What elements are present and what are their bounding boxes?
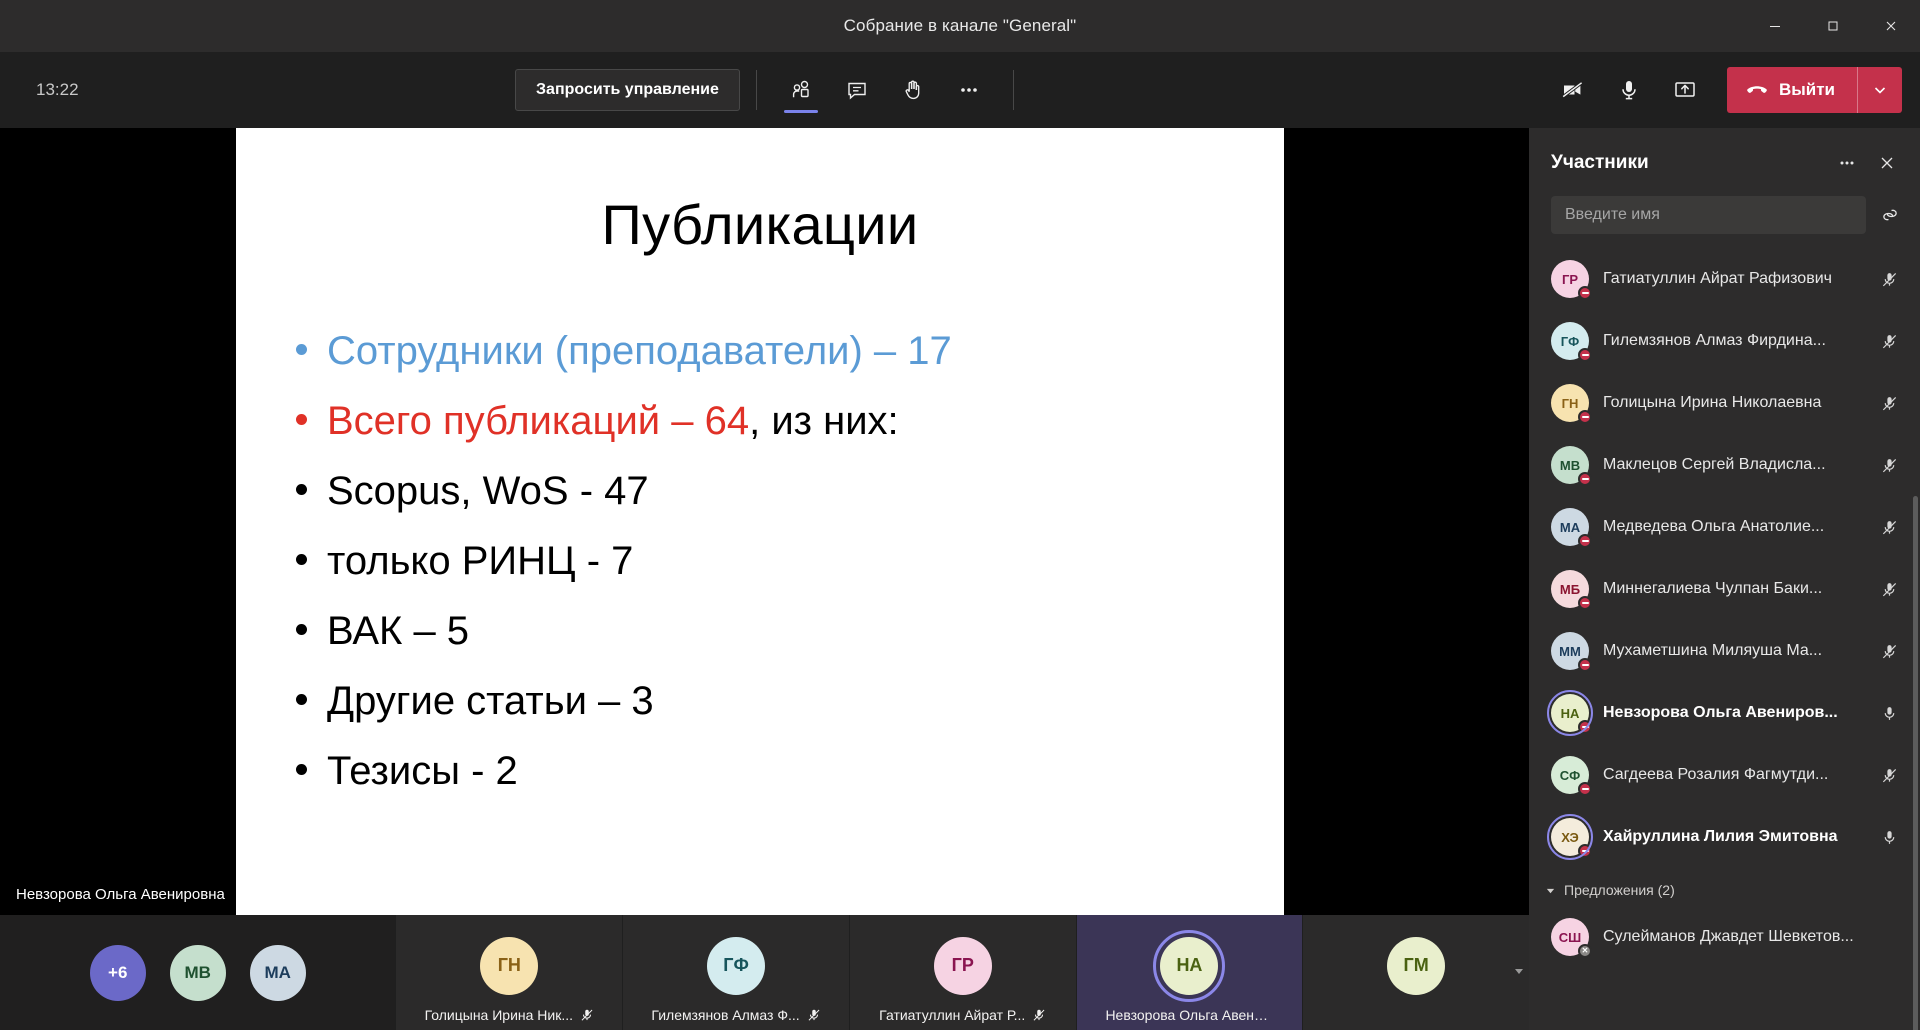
tile-name: Гилемзянов Алмаз Ф...	[651, 1007, 799, 1023]
meeting-stage: Публикации Сотрудники (преподаватели) – …	[0, 128, 1529, 915]
presence-badge-busy	[1578, 782, 1592, 796]
overflow-avatar[interactable]: МА	[250, 945, 306, 1001]
title-bar: Собрание в канале "General"	[0, 0, 1920, 52]
participant-mic-status	[1874, 767, 1904, 784]
participant-name: Гилемзянов Алмаз Фирдина...	[1603, 332, 1874, 350]
show-chat-button[interactable]	[829, 64, 885, 116]
bullet-tail: , из них:	[749, 399, 899, 443]
toolbar-divider-left	[756, 70, 757, 110]
toggle-camera-button[interactable]	[1545, 64, 1601, 116]
presence-badge-busy	[1578, 534, 1592, 548]
participant-mic-status	[1874, 581, 1904, 598]
presence-badge-busy	[1578, 348, 1592, 362]
bullet-dot	[296, 414, 307, 425]
slide-bullet-item: ВАК – 5	[288, 611, 1284, 651]
avatar: СФ	[1551, 756, 1589, 794]
presenter-name-label: Невзорова Ольга Авенировна	[16, 886, 225, 903]
bullet-dot	[296, 554, 307, 565]
bullet-text: только РИНЦ - 7	[327, 541, 633, 581]
filmstrip-tile[interactable]: ГМ	[1302, 915, 1529, 1030]
slide-bullet-item: Сотрудники (преподаватели) – 17	[288, 331, 1284, 371]
share-screen-button[interactable]	[1657, 64, 1713, 116]
bullet-dot	[296, 694, 307, 705]
tile-name: Голицына Ирина Ник...	[425, 1007, 573, 1023]
chevron-down-icon	[1872, 82, 1888, 98]
participant-list[interactable]: ГР Гатиатуллин Айрат Рафизович ГФ Гилемз…	[1529, 246, 1920, 1030]
microphone-muted-icon	[1881, 395, 1898, 412]
panel-title: Участники	[1551, 152, 1649, 174]
presence-badge-busy	[1578, 596, 1592, 610]
avatar: ГФ	[707, 937, 765, 995]
bullet-text: ВАК – 5	[327, 611, 469, 651]
filmstrip-tile[interactable]: ГН Голицына Ирина Ник...	[395, 915, 622, 1030]
hangup-main[interactable]: Выйти	[1727, 67, 1857, 113]
participant-mic-status	[1874, 333, 1904, 350]
avatar: МВ	[1551, 446, 1589, 484]
active-tab-indicator	[784, 110, 818, 113]
presence-badge-busy	[1578, 286, 1592, 300]
minimize-button[interactable]	[1746, 0, 1804, 52]
tile-label-row: Голицына Ирина Ник...	[396, 1007, 622, 1023]
avatar: ГР	[1551, 260, 1589, 298]
avatar: ГМ	[1387, 937, 1445, 995]
participant-name: Мухаметшина Миляуша Ма...	[1603, 642, 1874, 660]
presence-badge-busy	[1578, 844, 1592, 858]
participant-mic-status	[1874, 829, 1904, 846]
toolbar-icon-group	[773, 64, 997, 116]
microphone-muted-icon	[1881, 333, 1898, 350]
slide-bullet-item: Всего публикаций – 64, из них:	[288, 401, 1284, 441]
slide-bullet-list: Сотрудники (преподаватели) – 17 Всего пу…	[288, 331, 1284, 791]
tile-label-row: Невзорова Ольга Авенир...	[1077, 1007, 1303, 1023]
panel-header: Участники	[1529, 128, 1920, 190]
tile-name: Невзорова Ольга Авенир...	[1105, 1007, 1273, 1023]
caret-down-icon	[1545, 885, 1556, 896]
hangup-button[interactable]: Выйти	[1727, 67, 1902, 113]
share-link-icon	[1880, 205, 1900, 225]
avatar: ГР	[934, 937, 992, 995]
panel-header-actions	[1830, 146, 1904, 180]
request-control-button[interactable]: Запросить управление	[515, 69, 740, 111]
tile-label-row: Гатиатуллин Айрат Р...	[850, 1007, 1076, 1023]
participant-name: Медведева Ольга Анатолие...	[1603, 518, 1874, 536]
microphone-muted-icon	[1881, 457, 1898, 474]
bullet-dot	[296, 484, 307, 495]
panel-more-options-button[interactable]	[1830, 146, 1864, 180]
toolbar-center-group: Запросить управление	[515, 64, 1030, 116]
presence-badge-offline: ✕	[1578, 944, 1592, 958]
microphone-muted-icon	[1881, 271, 1898, 288]
participant-row[interactable]: ГР Гатиатуллин Айрат Рафизович	[1529, 248, 1920, 310]
meeting-toolbar: 13:22 Запросить управление	[0, 52, 1920, 128]
participant-name: Сагдеева Розалия Фагмутди...	[1603, 766, 1874, 784]
participant-name: Гатиатуллин Айрат Рафизович	[1603, 270, 1874, 288]
participant-row[interactable]: ГН Голицына Ирина Николаевна	[1529, 372, 1920, 434]
avatar: ГН	[480, 937, 538, 995]
participants-panel: Участники	[1529, 128, 1920, 1030]
participant-name: Сулейманов Джавдет Шевкетов...	[1603, 928, 1904, 946]
slide-bullet-item: Другие статьи – 3	[288, 681, 1284, 721]
microphone-muted-icon	[1881, 767, 1898, 784]
bullet-text: Тезисы - 2	[327, 751, 518, 791]
panel-close-button[interactable]	[1870, 146, 1904, 180]
participant-row[interactable]: МБ Миннегалиева Чулпан Баки...	[1529, 558, 1920, 620]
participant-row[interactable]: СФ Сагдеева Розалия Фагмутди...	[1529, 744, 1920, 806]
bullet-text: Scopus, WoS - 47	[327, 471, 649, 511]
filmstrip-tile-active-speaker[interactable]: НА Невзорова Ольга Авенир...	[1076, 915, 1303, 1030]
call-controls: Выйти	[1545, 64, 1902, 116]
microphone-muted-icon	[1881, 581, 1898, 598]
filmstrip-overflow-tile[interactable]: +6 МВ МА	[0, 915, 395, 1030]
teams-meeting-window: Собрание в канале "General" 13:22 Запрос…	[0, 0, 1920, 1030]
participant-mic-status	[1874, 519, 1904, 536]
participant-row[interactable]: МА Медведева Ольга Анатолие...	[1529, 496, 1920, 558]
raise-hand-button[interactable]	[885, 64, 941, 116]
participant-search-row	[1529, 190, 1920, 246]
participant-row-active-speaker[interactable]: ХЭ Хайруллина Лилия Эмитовна	[1529, 806, 1920, 868]
avatar: НА	[1551, 694, 1589, 732]
show-participants-button[interactable]	[773, 64, 829, 116]
tile-label-row: Гилемзянов Алмаз Ф...	[623, 1007, 849, 1023]
participant-name: Невзорова Ольга Авениров...	[1603, 704, 1874, 722]
maximize-button[interactable]	[1804, 0, 1862, 52]
participant-search-input[interactable]	[1551, 196, 1866, 234]
presence-badge-busy	[1578, 472, 1592, 486]
suggestions-section-header[interactable]: Предложения (2)	[1529, 868, 1920, 906]
microphone-muted-icon	[807, 1008, 821, 1022]
toolbar-divider-right	[1013, 70, 1014, 110]
microphone-muted-icon	[1881, 519, 1898, 536]
avatar: ГФ	[1551, 322, 1589, 360]
suggestions-section-label: Предложения (2)	[1564, 882, 1675, 898]
participant-name: Миннегалиева Чулпан Баки...	[1603, 580, 1874, 598]
bullet-text: Всего публикаций – 64	[327, 399, 749, 443]
microphone-icon	[1881, 705, 1898, 722]
participant-row-suggested[interactable]: СШ ✕ Сулейманов Джавдет Шевкетов...	[1529, 906, 1920, 968]
bullet-text: Другие статьи – 3	[327, 681, 654, 721]
more-options-button[interactable]	[941, 64, 997, 116]
share-invite-link-button[interactable]	[1874, 199, 1906, 231]
participant-list-scrollbar[interactable]	[1913, 496, 1918, 1030]
bullet-dot	[296, 764, 307, 775]
slide-title: Публикации	[236, 192, 1284, 257]
slide-bullet-item: только РИНЦ - 7	[288, 541, 1284, 581]
participant-row[interactable]: МВ Маклецов Сергей Владисла...	[1529, 434, 1920, 496]
bullet-dot	[296, 624, 307, 635]
slide-bullet-item: Тезисы - 2	[288, 751, 1284, 791]
participant-mic-status	[1874, 395, 1904, 412]
window-controls	[1746, 0, 1920, 52]
filmstrip-tile[interactable]: ГР Гатиатуллин Айрат Р...	[849, 915, 1076, 1030]
overflow-avatar[interactable]: МВ	[170, 945, 226, 1001]
microphone-muted-icon	[1032, 1008, 1046, 1022]
participant-name: Хайруллина Лилия Эмитовна	[1603, 828, 1874, 846]
close-button[interactable]	[1862, 0, 1920, 52]
avatar: ММ	[1551, 632, 1589, 670]
avatar: МБ	[1551, 570, 1589, 608]
meeting-clock: 13:22	[36, 80, 79, 100]
participant-name: Маклецов Сергей Владисла...	[1603, 456, 1874, 474]
participant-mic-status	[1874, 457, 1904, 474]
toggle-microphone-button[interactable]	[1601, 64, 1657, 116]
close-icon	[1878, 154, 1896, 172]
presence-badge-busy	[1578, 720, 1592, 734]
microphone-icon	[1881, 829, 1898, 846]
avatar: ХЭ	[1551, 818, 1589, 856]
bullet-dot	[296, 344, 307, 355]
bullet-text: Сотрудники (преподаватели) – 17	[327, 329, 952, 373]
more-options-icon	[1838, 154, 1856, 172]
participant-row-active-speaker[interactable]: НА Невзорова Ольга Авениров...	[1529, 682, 1920, 744]
participant-mic-status	[1874, 271, 1904, 288]
avatar: СШ ✕	[1551, 918, 1589, 956]
microphone-muted-icon	[580, 1008, 594, 1022]
phone-hangup-icon	[1745, 78, 1769, 102]
participant-row[interactable]: ГФ Гилемзянов Алмаз Фирдина...	[1529, 310, 1920, 372]
microphone-muted-icon	[1881, 643, 1898, 660]
avatar: ГН	[1551, 384, 1589, 422]
hangup-label: Выйти	[1779, 80, 1835, 100]
overflow-count-avatar[interactable]: +6	[90, 945, 146, 1001]
caret-down-icon	[1513, 965, 1525, 977]
hangup-dropdown-button[interactable]	[1858, 67, 1902, 113]
presence-badge-busy	[1578, 410, 1592, 424]
participant-filmstrip: +6 МВ МА ГН Голицына Ирина Ник... ГФ Гил…	[0, 915, 1529, 1030]
participant-row[interactable]: ММ Мухаметшина Миляуша Ма...	[1529, 620, 1920, 682]
filmstrip-tile[interactable]: ГФ Гилемзянов Алмаз Ф...	[622, 915, 849, 1030]
window-title: Собрание в канале "General"	[844, 16, 1077, 36]
participant-name: Голицына Ирина Николаевна	[1603, 394, 1874, 412]
participant-mic-status	[1874, 705, 1904, 722]
slide-bullet-item: Scopus, WoS - 47	[288, 471, 1284, 511]
avatar: МА	[1551, 508, 1589, 546]
tile-name: Гатиатуллин Айрат Р...	[879, 1007, 1025, 1023]
shared-slide[interactable]: Публикации Сотрудники (преподаватели) – …	[236, 128, 1284, 915]
filmstrip-scroll-next-button[interactable]	[1513, 964, 1525, 982]
presence-badge-busy	[1578, 658, 1592, 672]
participant-mic-status	[1874, 643, 1904, 660]
avatar: НА	[1160, 937, 1218, 995]
